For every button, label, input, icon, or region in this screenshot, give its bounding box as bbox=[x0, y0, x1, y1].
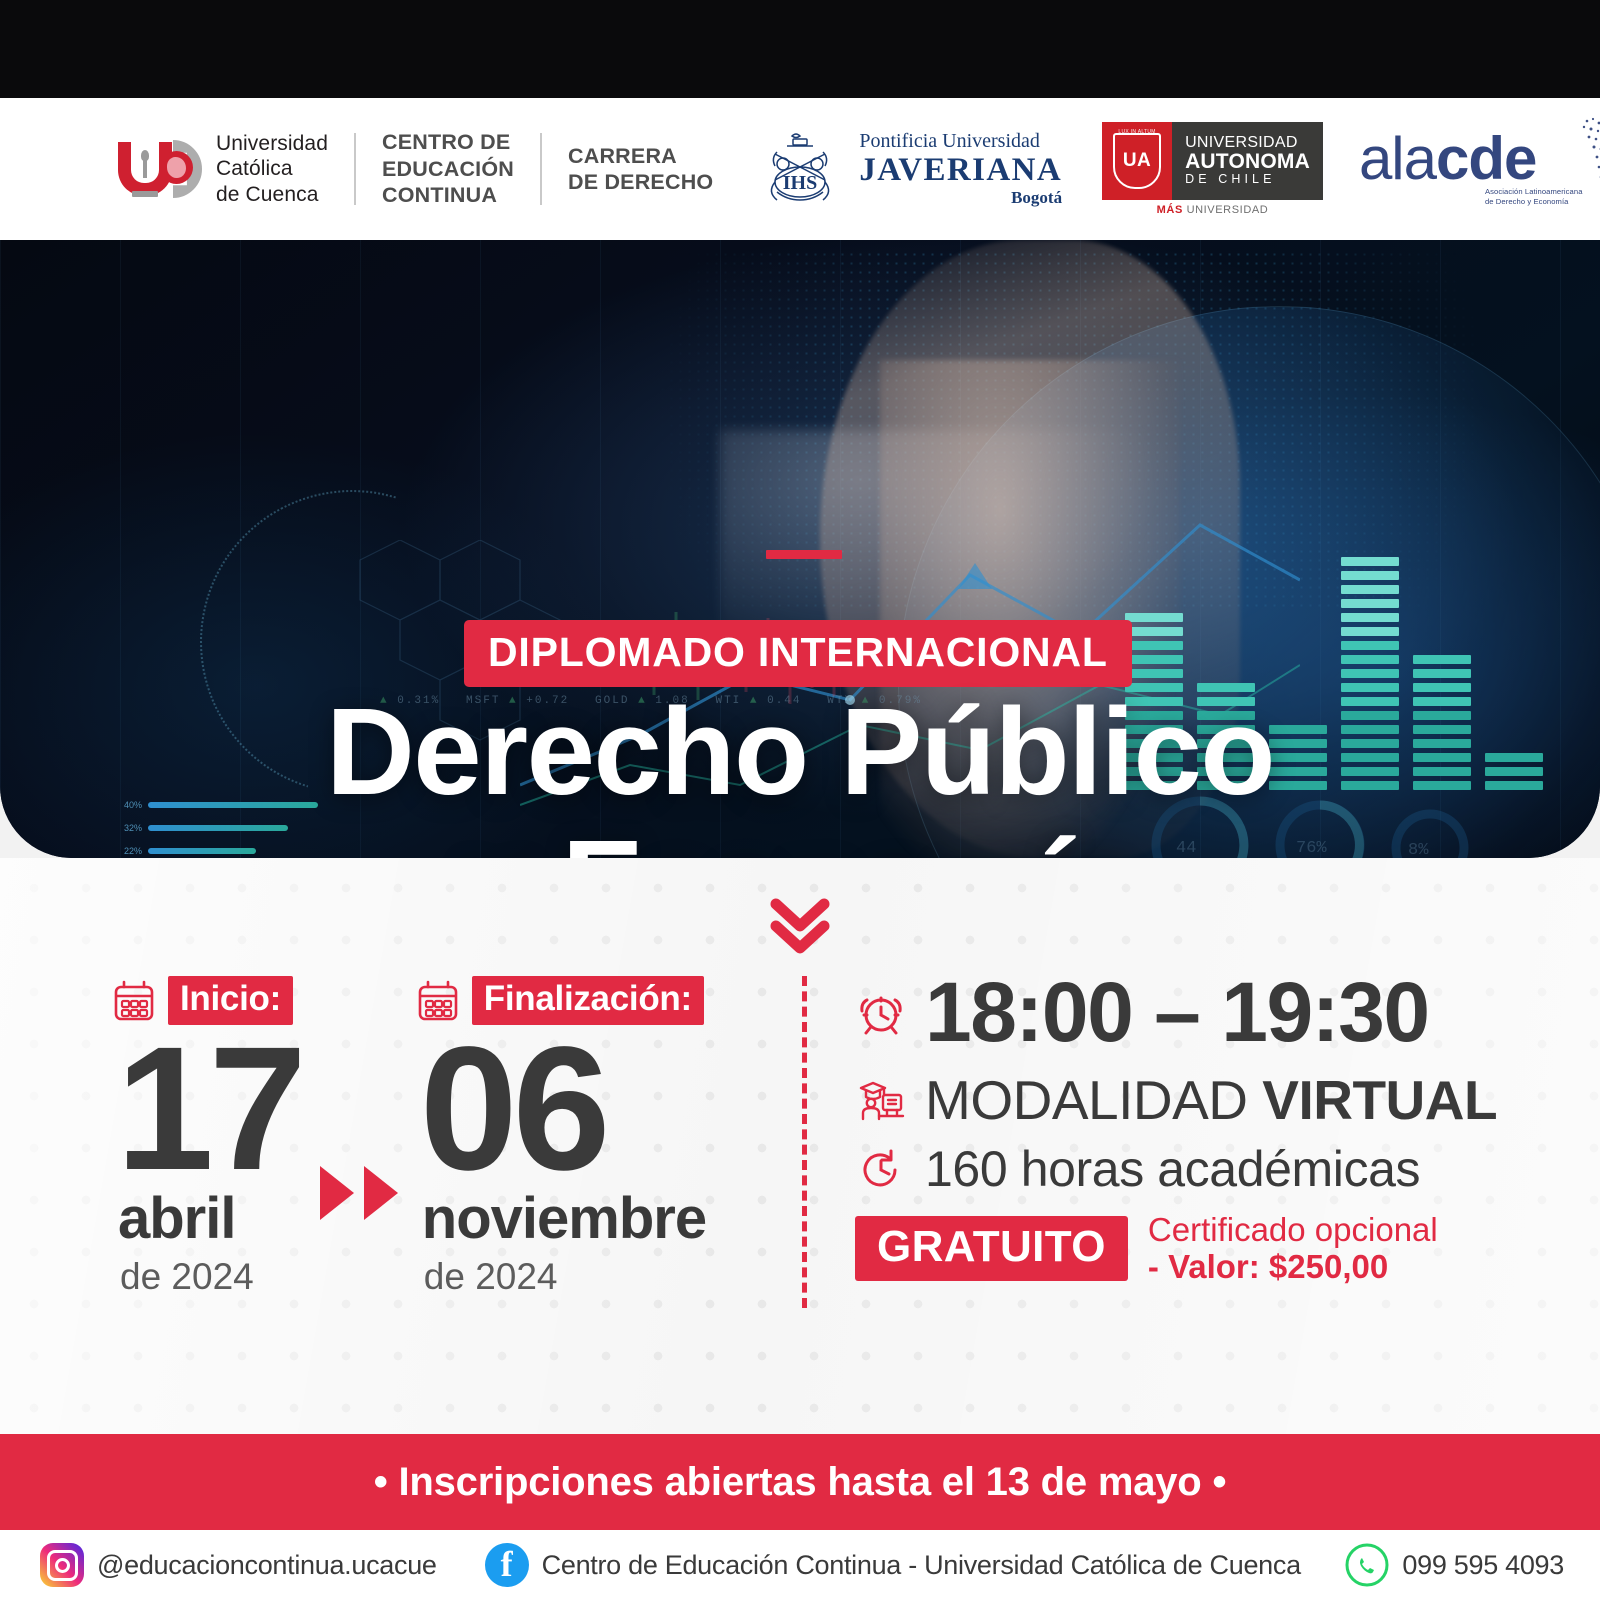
header-divider-1 bbox=[354, 133, 356, 205]
alacde-logo: alacde Asociación Latinoamericana de Der… bbox=[1359, 131, 1583, 207]
price-badge: GRATUITO bbox=[855, 1216, 1128, 1281]
facebook-item[interactable]: Centro de Educación Continua - Universid… bbox=[485, 1543, 1301, 1587]
schedule-time: 18:00 – 19:30 bbox=[925, 970, 1429, 1056]
unit1-line-1: CENTRO DE bbox=[382, 129, 514, 155]
autonoma-line-1: UNIVERSIDAD bbox=[1185, 135, 1310, 152]
autonoma-shield-motto: LUX IN ALTUM bbox=[1102, 129, 1172, 135]
ucacue-line-2: Católica bbox=[216, 156, 328, 182]
info-column: 18:00 – 19:30 bbox=[855, 970, 1555, 1286]
alarm-clock-icon bbox=[857, 989, 905, 1037]
top-black-bar bbox=[0, 0, 1600, 98]
poster-root: Universidad Católica de Cuenca CENTRO DE… bbox=[0, 0, 1600, 1600]
modality-row: MODALIDAD VIRTUAL bbox=[855, 1072, 1555, 1130]
vertical-dashed-divider bbox=[802, 976, 807, 1308]
header-divider-2 bbox=[540, 133, 542, 205]
javeriana-line-3: Bogotá bbox=[859, 188, 1062, 208]
details-section: Inicio: 17 abril de 2024 bbox=[0, 858, 1600, 1434]
unit2-line-2: DE DERECHO bbox=[568, 169, 713, 195]
alacde-sub-2: de Derecho y Economía bbox=[1485, 197, 1583, 207]
unit-carrera-derecho: CARRERA DE DERECHO bbox=[568, 143, 713, 196]
javeriana-crest-icon: IHS bbox=[757, 130, 843, 208]
certificate-line-2: - Valor: $250,00 bbox=[1148, 1248, 1388, 1285]
facebook-page: Centro de Educación Continua - Universid… bbox=[542, 1550, 1301, 1581]
unit1-line-2: EDUCACIÓN bbox=[382, 156, 514, 182]
ucacue-logo-icon bbox=[118, 138, 202, 200]
autonoma-chile-logo: LUX IN ALTUM UA UNIVERSIDAD AUTONOMA DE … bbox=[1102, 122, 1323, 216]
whatsapp-item[interactable]: 099 595 4093 bbox=[1345, 1543, 1564, 1587]
alacde-word-bold: cde bbox=[1436, 125, 1536, 192]
modality-value: VIRTUAL bbox=[1262, 1069, 1497, 1131]
autonoma-tagline-bold: MÁS bbox=[1157, 204, 1183, 216]
javeriana-logo: IHS Pontificia Universidad JAVERIANA Bog… bbox=[757, 130, 1062, 209]
page-title: Derecho Público y Economía bbox=[0, 692, 1600, 858]
instagram-item[interactable]: @educacioncontinua.ucacue bbox=[40, 1543, 437, 1587]
autonoma-tagline-rest: UNIVERSIDAD bbox=[1187, 204, 1269, 216]
whatsapp-icon[interactable] bbox=[1345, 1543, 1389, 1587]
autonoma-line-2: AUTONOMA bbox=[1185, 151, 1310, 172]
javeriana-line-2: JAVERIANA bbox=[859, 152, 1062, 188]
clock-arrow-icon bbox=[857, 1146, 905, 1194]
facebook-icon[interactable] bbox=[485, 1543, 529, 1587]
hero-banner: ▲ 0.31% MSFT ▲ +0.72 GOLD ▲ 1.08 WTI ▲ 0… bbox=[0, 240, 1600, 858]
dates-column: Inicio: 17 abril de 2024 bbox=[0, 976, 800, 1295]
red-dash-mark bbox=[766, 550, 842, 559]
diplomado-badge: DIPLOMADO INTERNACIONAL bbox=[464, 620, 1132, 687]
autonoma-shield-icon: LUX IN ALTUM UA bbox=[1102, 122, 1172, 200]
partner-logo-header: Universidad Católica de Cuenca CENTRO DE… bbox=[0, 98, 1600, 240]
hours-row: 160 horas académicas bbox=[855, 1143, 1555, 1196]
end-date-day: 06 bbox=[420, 1039, 706, 1180]
ucacue-logo: Universidad Católica de Cuenca bbox=[118, 131, 328, 208]
end-date-month: noviembre bbox=[422, 1190, 706, 1248]
alacde-word-light: ala bbox=[1359, 125, 1436, 192]
start-date-block: Inicio: 17 abril de 2024 bbox=[112, 976, 302, 1295]
title-line-2: y Economía bbox=[0, 824, 1600, 858]
price-row: GRATUITO Certificado opcional - Valor: $… bbox=[855, 1212, 1555, 1286]
double-chevron-down-icon bbox=[760, 894, 840, 956]
alacde-wordmark: alacde bbox=[1359, 131, 1536, 186]
latin-america-map-icon bbox=[1571, 115, 1600, 219]
javeriana-line-1: Pontificia Universidad bbox=[859, 130, 1062, 152]
schedule-row: 18:00 – 19:30 bbox=[855, 970, 1555, 1056]
modality-text: MODALIDAD VIRTUAL bbox=[925, 1072, 1497, 1130]
certificate-note: Certificado opcional - Valor: $250,00 bbox=[1148, 1212, 1438, 1286]
modality-prefix: MODALIDAD bbox=[925, 1069, 1262, 1131]
autonoma-shield-text: UA bbox=[1123, 150, 1151, 172]
ucacue-wordmark: Universidad Católica de Cuenca bbox=[216, 131, 328, 208]
ucacue-line-1: Universidad bbox=[216, 131, 328, 157]
enrollment-text: • Inscripciones abiertas hasta el 13 de … bbox=[374, 1460, 1227, 1505]
start-date-year: de 2024 bbox=[120, 1258, 302, 1295]
enrollment-strip: • Inscripciones abiertas hasta el 13 de … bbox=[0, 1434, 1600, 1530]
double-play-arrow-icon bbox=[320, 976, 398, 1220]
title-line-1: Derecho Público bbox=[326, 684, 1274, 821]
instagram-icon[interactable] bbox=[40, 1543, 84, 1587]
alacde-sub-1: Asociación Latinoamericana bbox=[1485, 187, 1583, 197]
instagram-handle: @educacioncontinua.ucacue bbox=[97, 1550, 437, 1581]
whatsapp-phone: 099 595 4093 bbox=[1402, 1550, 1564, 1581]
alacde-subtitle: Asociación Latinoamericana de Derecho y … bbox=[1485, 187, 1583, 207]
social-footer: @educacioncontinua.ucacue Centro de Educ… bbox=[0, 1530, 1600, 1600]
unit2-line-1: CARRERA bbox=[568, 143, 713, 169]
certificate-line-1: Certificado opcional bbox=[1148, 1212, 1438, 1249]
autonoma-line-3: DE CHILE bbox=[1185, 172, 1310, 187]
end-date-block: Finalización: 06 noviembre de 2024 bbox=[416, 976, 706, 1295]
hours-text: 160 horas académicas bbox=[925, 1143, 1420, 1196]
ucacue-line-3: de Cuenca bbox=[216, 182, 328, 208]
graduate-computer-icon bbox=[857, 1077, 905, 1125]
end-date-year: de 2024 bbox=[424, 1258, 706, 1295]
autonoma-tagline: MÁS UNIVERSIDAD bbox=[1157, 204, 1269, 216]
unit1-line-3: CONTINUA bbox=[382, 182, 514, 208]
start-date-day: 17 bbox=[116, 1039, 302, 1180]
svg-text:IHS: IHS bbox=[783, 172, 817, 194]
start-date-month: abril bbox=[118, 1190, 302, 1248]
unit-centro-educacion-continua: CENTRO DE EDUCACIÓN CONTINUA bbox=[382, 129, 514, 208]
